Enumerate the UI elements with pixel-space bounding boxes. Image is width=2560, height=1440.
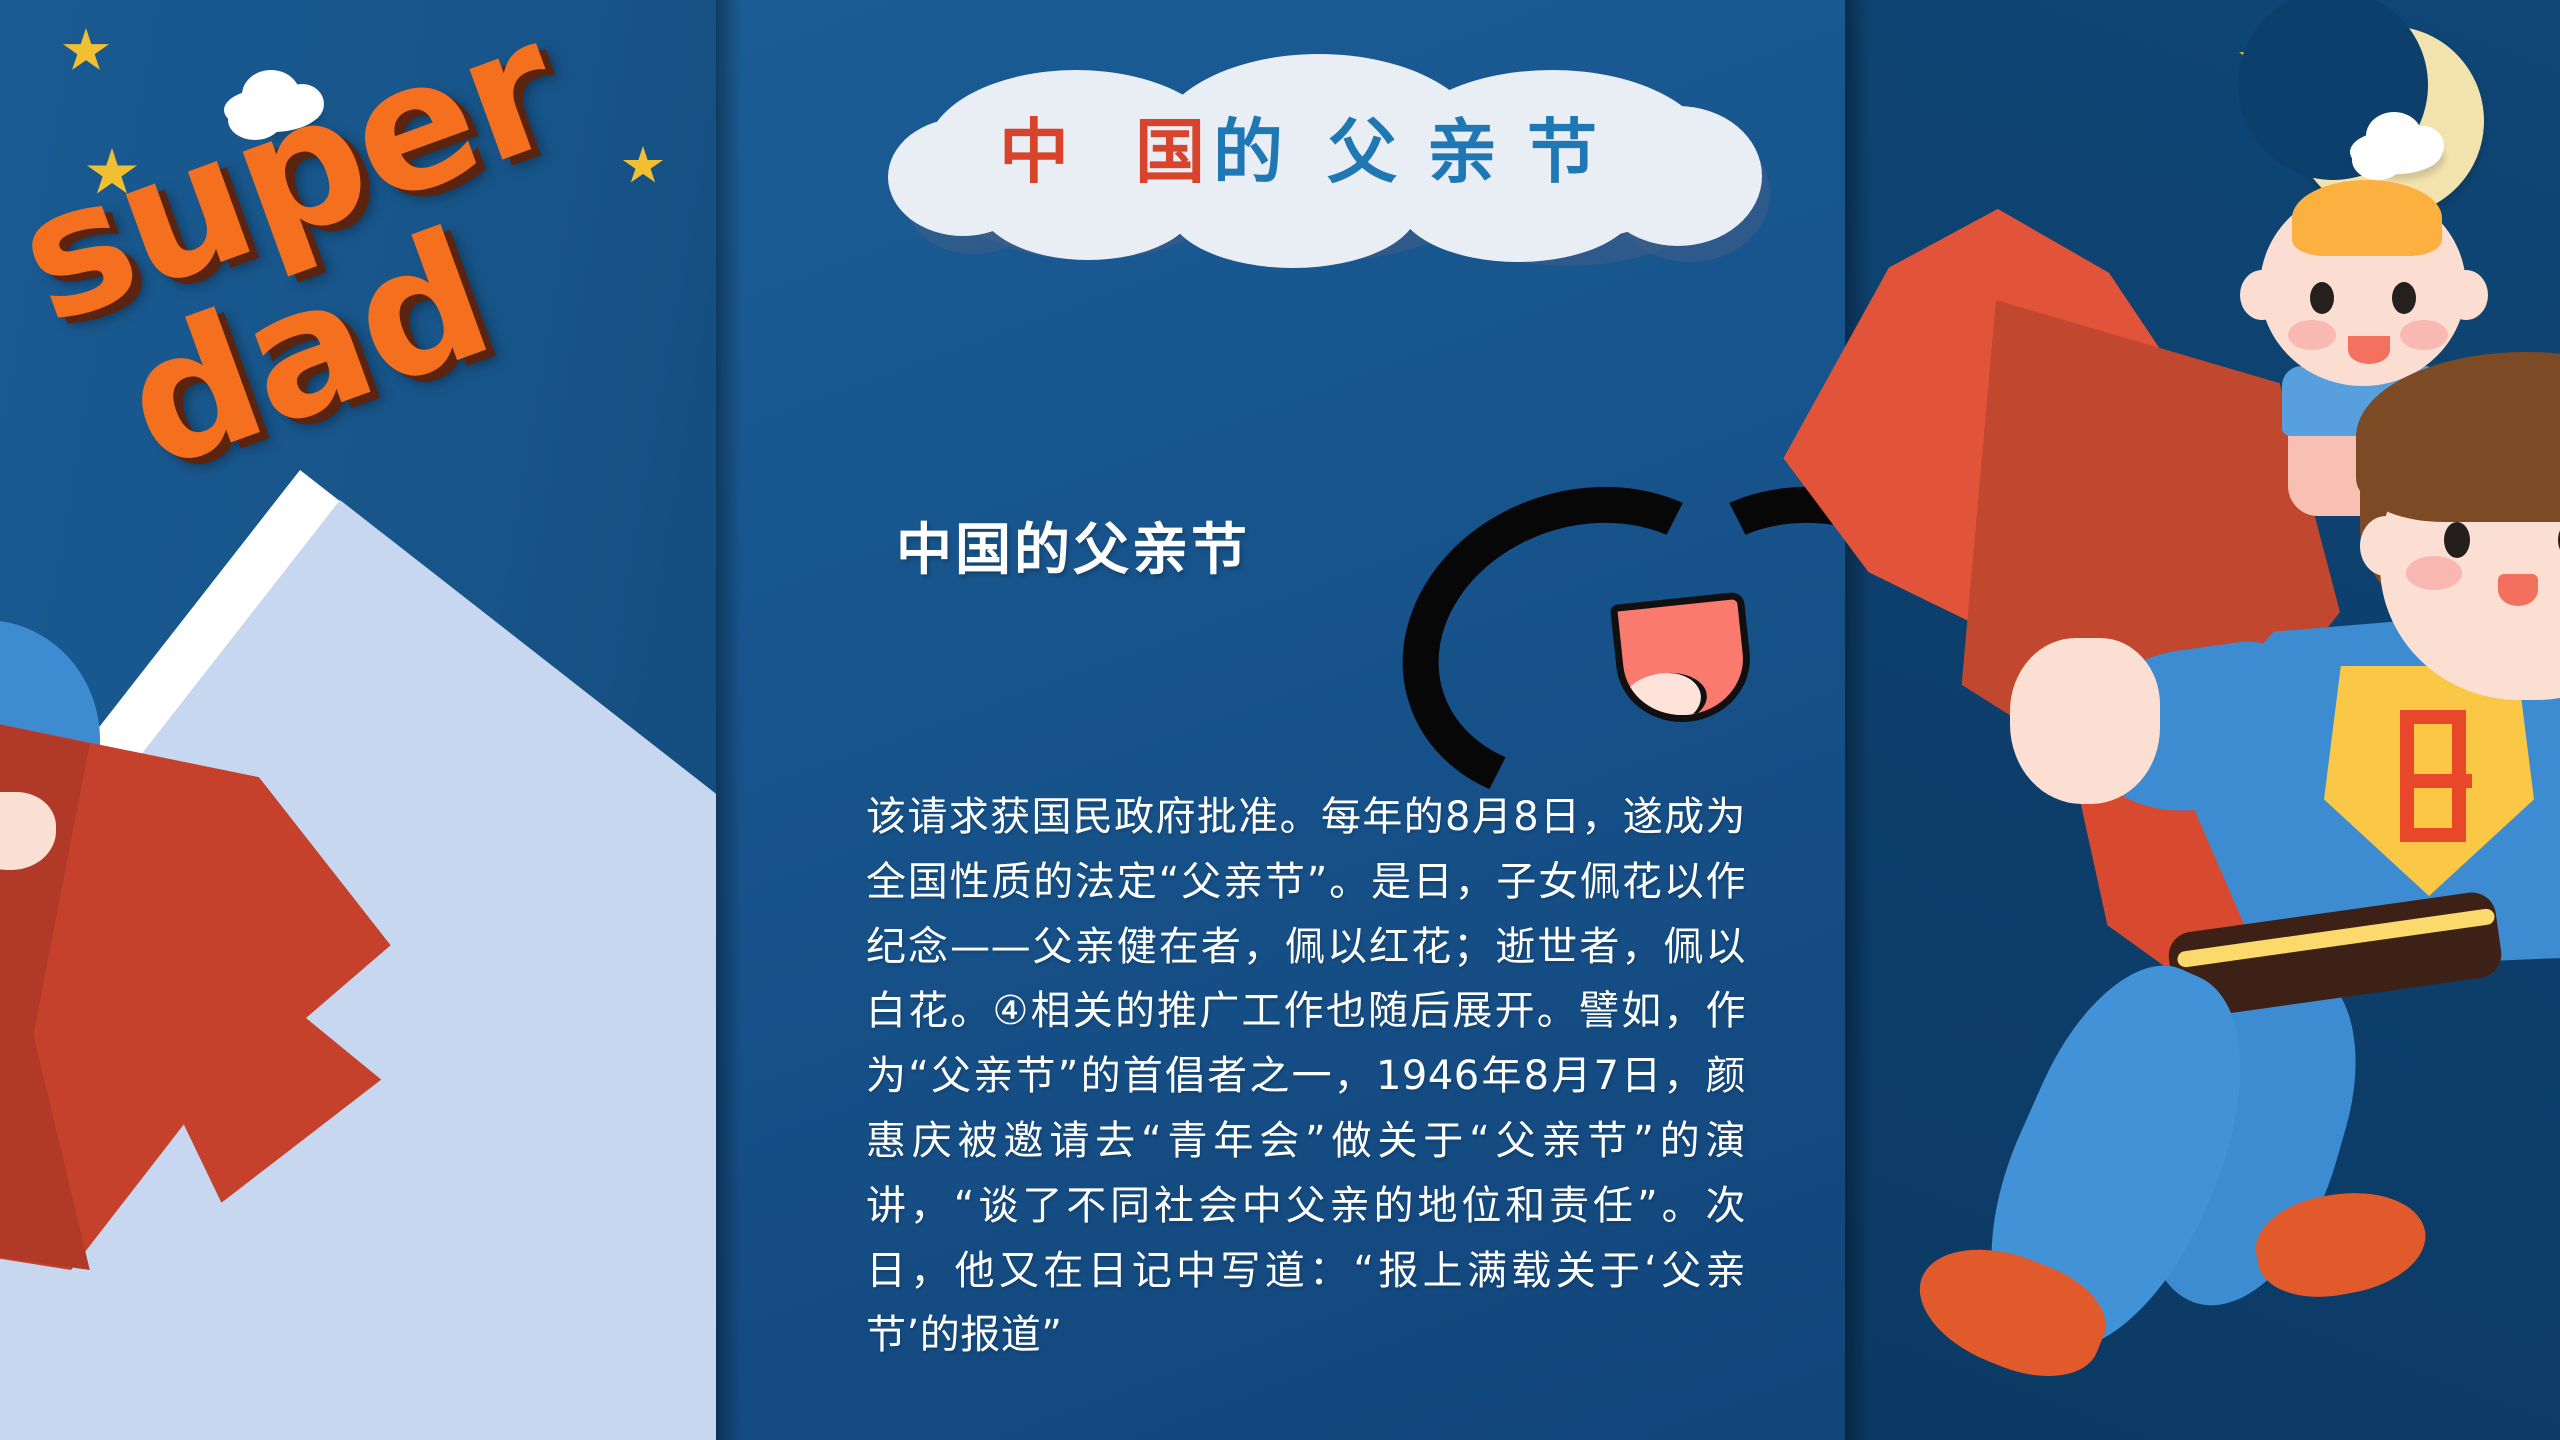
hero-eye-left — [2444, 522, 2470, 558]
baby-mouth — [2348, 336, 2390, 364]
baby-hair — [2292, 180, 2442, 256]
banner-char-3: 的 — [1213, 117, 1283, 187]
superhero-dad-icon — [1700, 170, 2560, 1270]
super-dad-headline: super dad — [0, 0, 799, 712]
baby-eye-right — [2392, 282, 2416, 314]
banner-title: 中 国 的 父 亲 节 — [868, 52, 1728, 252]
banner-char-4: 父 — [1327, 117, 1397, 187]
baby-cheek-left — [2288, 320, 2336, 350]
banner-char-5: 亲 — [1427, 117, 1497, 187]
hero-mouth — [2498, 574, 2538, 606]
left-panel: super dad — [0, 0, 716, 1440]
page-title: 中国的父亲节 — [896, 505, 1250, 586]
banner-char-6: 节 — [1527, 117, 1597, 187]
poster-canvas: super dad 中 国 的 父 — [0, 0, 2560, 1440]
hero-fist — [2010, 638, 2160, 804]
baby-eye-left — [2310, 282, 2334, 314]
cloud-title-banner: 中 国 的 父 亲 节 — [868, 52, 1768, 252]
star-icon — [62, 28, 110, 74]
banner-char-2: 国 — [1135, 117, 1205, 187]
cape-icon — [0, 620, 490, 1440]
banner-char-1: 中 — [999, 117, 1069, 187]
hero-cheek-left — [2406, 556, 2462, 590]
hero-chest-emblem — [2400, 710, 2466, 842]
body-paragraph: 该请求获国民政府批准。每年的8月8日，遂成为全国性质的法定“父亲节”。是日，子女… — [866, 785, 1746, 1368]
baby-cheek-right — [2400, 320, 2448, 350]
cloud-icon — [2350, 130, 2442, 174]
